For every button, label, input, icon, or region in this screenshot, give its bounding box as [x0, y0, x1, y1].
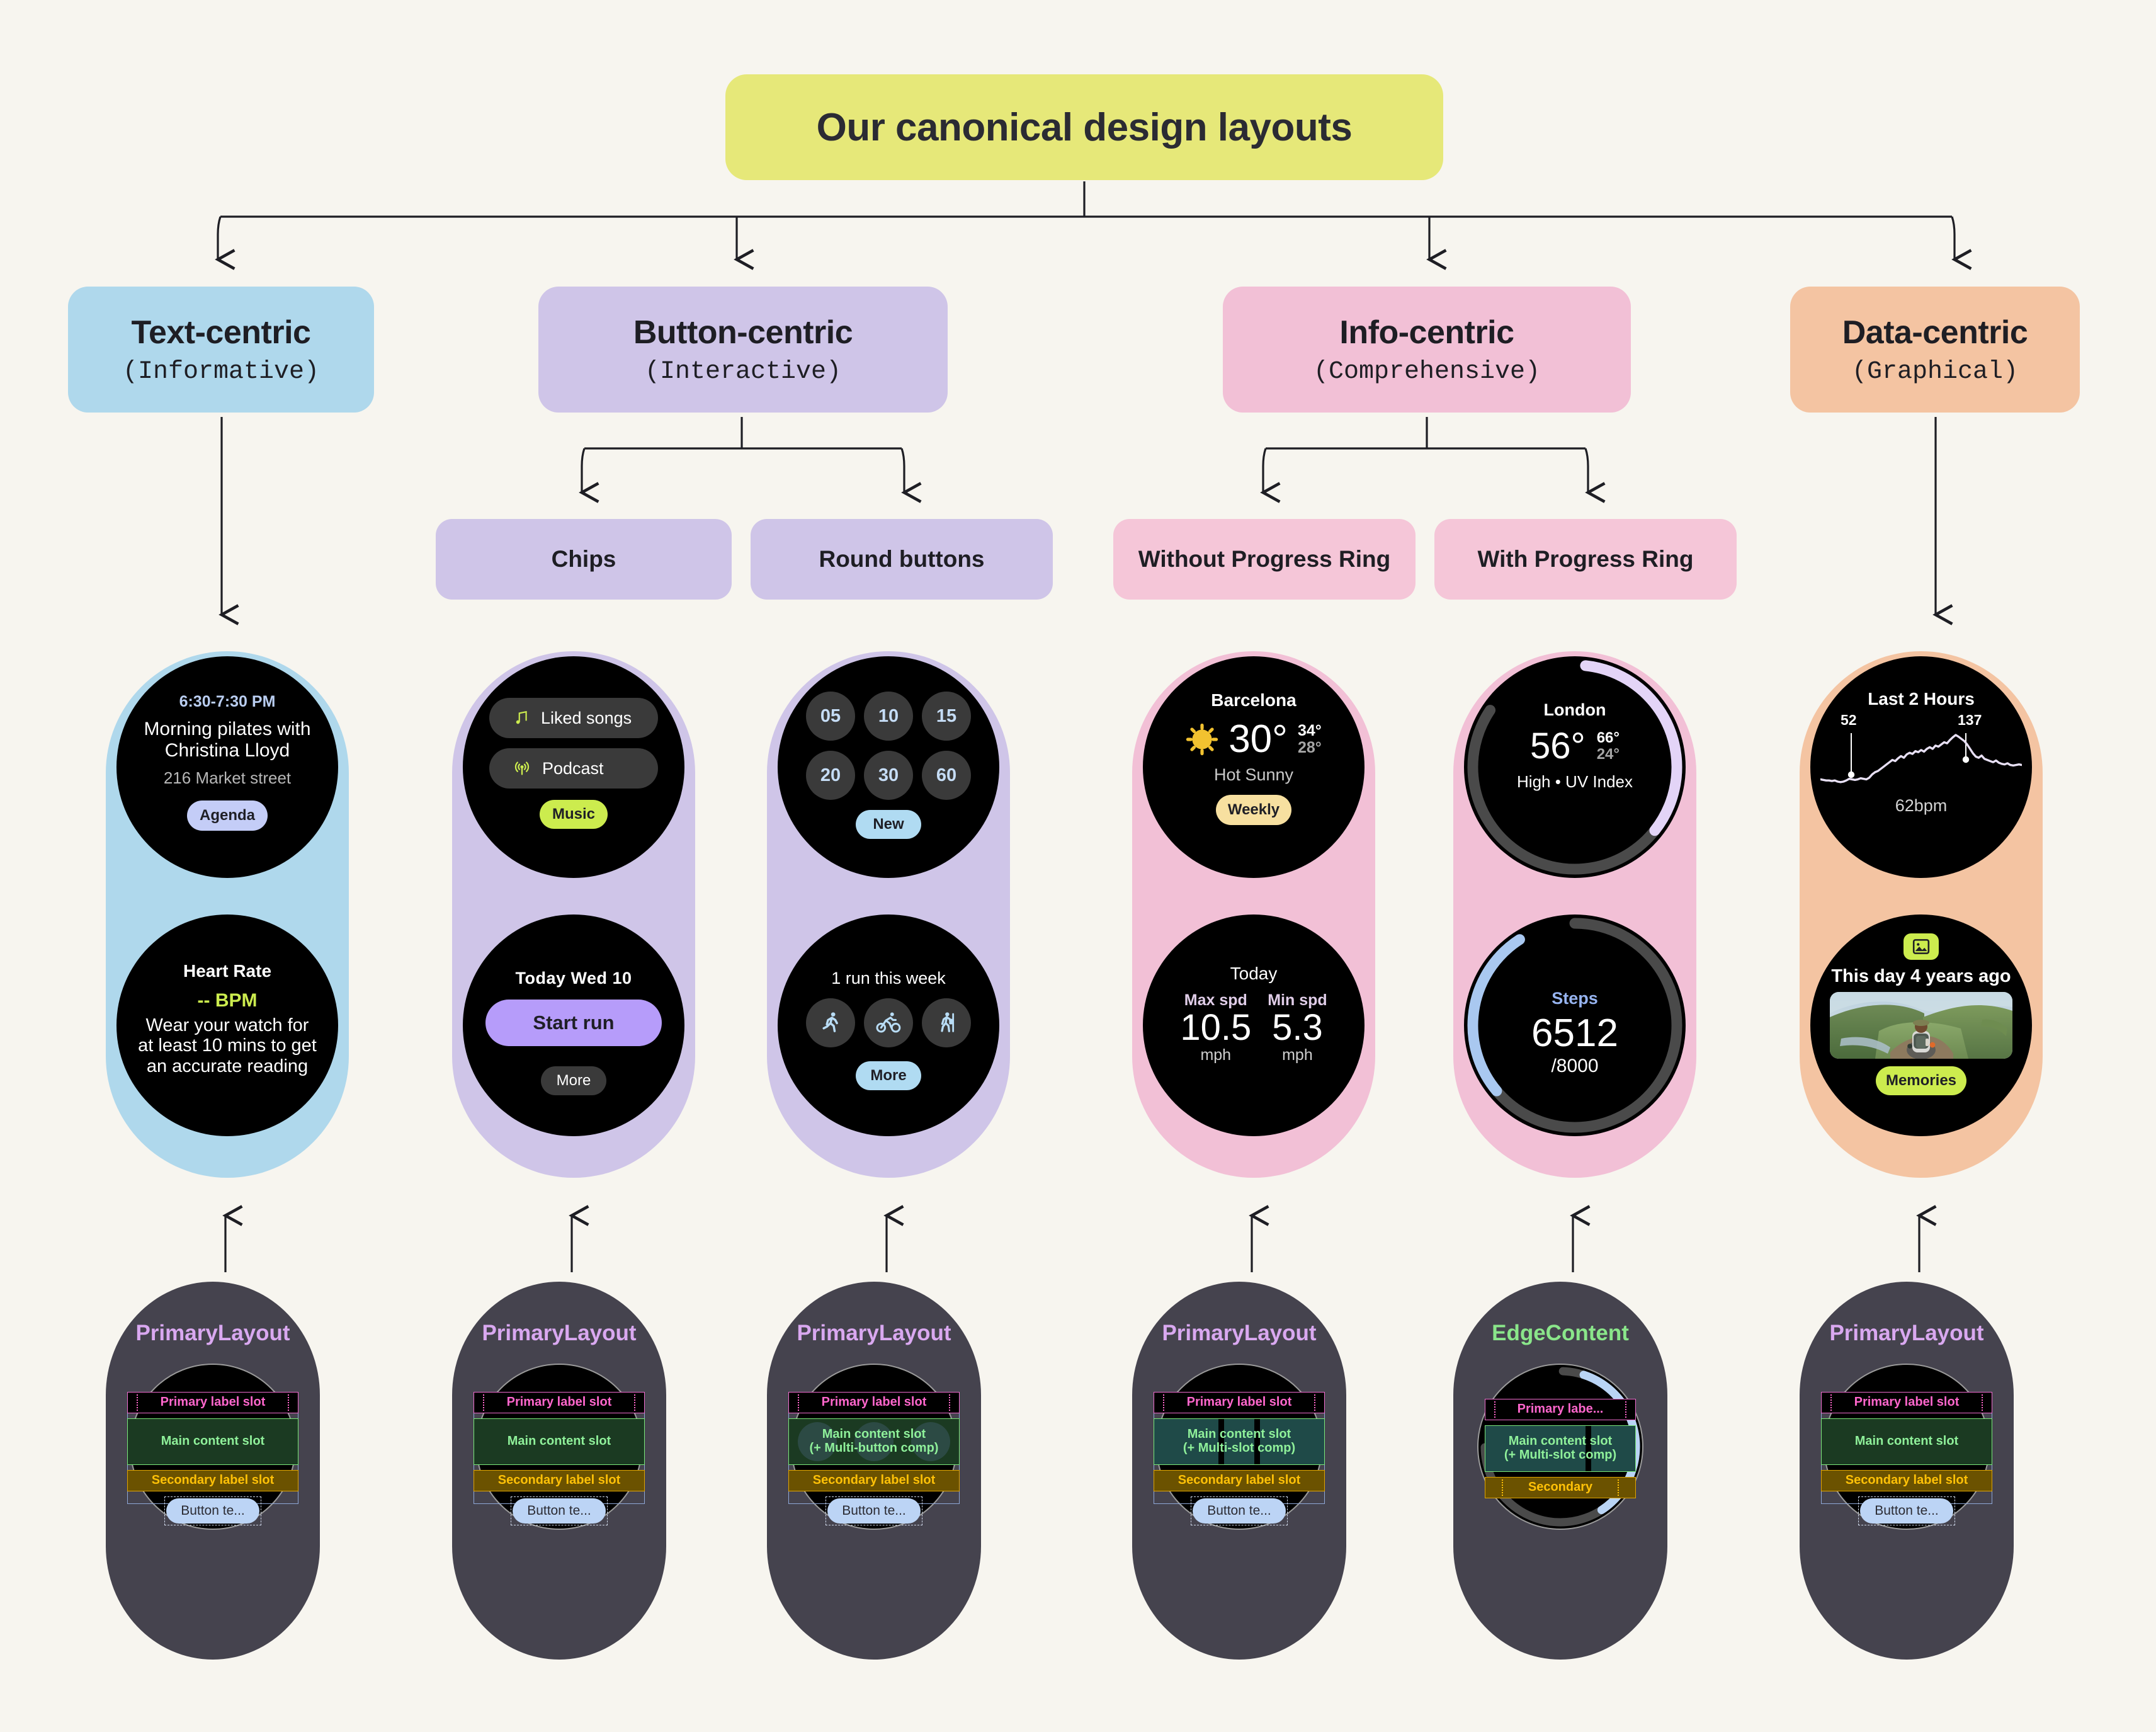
secondary-label-slot: Secondary label slot — [127, 1470, 298, 1491]
weather-high-low: 34° 28° — [1298, 722, 1322, 756]
speed-title: Today — [1230, 964, 1278, 984]
activity-button-run[interactable] — [806, 998, 855, 1047]
timer-new-button[interactable]: New — [856, 810, 921, 839]
wireframe-title: PrimaryLayout — [1829, 1321, 1983, 1346]
timer-button-grid: 05 10 15 20 30 60 — [806, 692, 971, 800]
speed-max-column: Max spd 10.5 mph — [1180, 991, 1251, 1064]
main-content-slot: Main content slot (+ Multi-button comp) — [788, 1418, 960, 1465]
primary-label-slot: Primary label slot — [1821, 1392, 1992, 1413]
speed-max-unit: mph — [1200, 1046, 1231, 1064]
weather-main-row: 30° 34° 28° — [1186, 717, 1322, 761]
music-button[interactable]: Music — [540, 800, 608, 829]
hr-current-value: 62bpm — [1895, 796, 1948, 816]
photo-icon — [1904, 933, 1939, 960]
activity-button-bike[interactable] — [864, 998, 913, 1047]
secondary-label-slot: Secondary — [1485, 1477, 1636, 1498]
wireframe-slots: Primary label slot Main content slot (+ … — [1154, 1392, 1325, 1525]
bike-icon — [875, 1010, 902, 1036]
agenda-event-title: Morning pilates with Christina Lloyd — [136, 719, 319, 761]
timer-button[interactable]: 05 — [806, 692, 855, 741]
hr-min-label: 52 — [1841, 712, 1857, 729]
hr-graph-chart: 52 137 — [1820, 712, 2022, 795]
primary-label-slot: Primary label slot — [474, 1392, 645, 1413]
wireframe-watch-5: EdgeContent Primary labe... Main content… — [1453, 1282, 1667, 1660]
weather-weekly-button[interactable]: Weekly — [1216, 795, 1291, 825]
activities-more-button[interactable]: More — [856, 1061, 921, 1090]
memories-button[interactable]: Memories — [1876, 1066, 1966, 1095]
speed-max-value: 10.5 — [1180, 1010, 1251, 1046]
agenda-button[interactable]: Agenda — [187, 800, 268, 831]
activities-title: 1 run this week — [831, 969, 946, 988]
category-name: Button-centric — [633, 314, 853, 351]
category-card-data-centric[interactable]: Data-centric (Graphical) — [1790, 287, 2080, 413]
timer-button[interactable]: 15 — [922, 692, 971, 741]
agenda-time: 6:30-7:30 PM — [179, 693, 276, 711]
wireframe-slots: Primary label slot Main content slot Sec… — [474, 1392, 645, 1525]
memories-photo — [1830, 992, 2012, 1059]
agenda-address: 216 Market street — [164, 768, 291, 788]
wireframe-button[interactable]: Button te... — [166, 1498, 259, 1524]
watch-screen-activities: 1 run this week — [778, 914, 999, 1136]
wireframe-slots: Primary labe... Main content slot (+ Mul… — [1485, 1399, 1636, 1498]
run-icon — [818, 1010, 843, 1035]
wireframe-slots: Primary label slot Main content slot (+ … — [788, 1392, 960, 1525]
secondary-label-slot: Secondary label slot — [788, 1470, 960, 1491]
primary-label-slot: Primary label slot — [788, 1392, 960, 1413]
subcategory-chips[interactable]: Chips — [436, 519, 732, 600]
watch-screen-speed: Today Max spd 10.5 mph Min spd 5.3 mph — [1143, 914, 1365, 1136]
category-card-text-centric[interactable]: Text-centric (Informative) — [68, 287, 374, 413]
main-content-slot: Main content slot (+ Multi-slot comp) — [1485, 1425, 1636, 1472]
chip-podcast[interactable]: Podcast — [489, 748, 658, 789]
wireframe-title: PrimaryLayout — [797, 1321, 951, 1346]
secondary-label-slot: Secondary label slot — [474, 1470, 645, 1491]
secondary-label-slot: Secondary label slot — [1154, 1470, 1325, 1491]
watch-screen-hr-graph: Last 2 Hours 52 137 62bpm — [1810, 656, 2032, 878]
category-name: Info-centric — [1339, 314, 1514, 351]
wireframe-title: PrimaryLayout — [135, 1321, 290, 1346]
hr-max-label: 137 — [1958, 712, 1982, 729]
start-run-cta-button[interactable]: Start run — [485, 1000, 662, 1046]
speed-min-column: Min spd 5.3 mph — [1268, 991, 1327, 1064]
watch-screen-heart-rate: Heart Rate -- BPM Wear your watch for at… — [116, 914, 338, 1136]
subcategory-round-buttons[interactable]: Round buttons — [751, 519, 1053, 600]
category-name: Data-centric — [1842, 314, 2028, 351]
subcategory-without-progress-ring[interactable]: Without Progress Ring — [1113, 519, 1416, 600]
timer-button[interactable]: 10 — [864, 692, 913, 741]
category-card-button-centric[interactable]: Button-centric (Interactive) — [538, 287, 948, 413]
wireframe-button[interactable]: Button te... — [1193, 1498, 1286, 1524]
watch-screen-start-run: Today Wed 10 Start run More — [463, 914, 684, 1136]
activities-row — [806, 998, 971, 1047]
wireframe-slots: Primary label slot Main content slot Sec… — [1821, 1392, 1992, 1525]
weather-city: Barcelona — [1211, 690, 1296, 710]
wireframe-title: PrimaryLayout — [1162, 1321, 1316, 1346]
wireframe-title: PrimaryLayout — [482, 1321, 636, 1346]
music-note-icon — [513, 710, 530, 726]
primary-label-slot: Primary labe... — [1485, 1399, 1636, 1420]
timer-button[interactable]: 30 — [864, 751, 913, 800]
start-run-more-button[interactable]: More — [541, 1066, 606, 1095]
weather-low: 28° — [1298, 739, 1322, 756]
category-card-info-centric[interactable]: Info-centric (Comprehensive) — [1223, 287, 1631, 413]
primary-label-slot: Primary label slot — [127, 1392, 298, 1413]
main-content-slot: Main content slot — [1821, 1418, 1992, 1465]
watch-screen-weather-barcelona: Barcelona 30° 34° 28° Hot Sunny Weekly — [1143, 656, 1365, 878]
wireframe-watch-6: PrimaryLayout Primary label slot Main co… — [1800, 1282, 2014, 1660]
subcategory-with-progress-ring[interactable]: With Progress Ring — [1434, 519, 1737, 600]
weather-high: 34° — [1298, 722, 1322, 739]
photo-glyph-icon — [1912, 938, 1931, 955]
heart-rate-title: Heart Rate — [183, 961, 271, 981]
category-subtitle: (Interactive) — [645, 358, 841, 386]
page-title-text: Our canonical design layouts — [817, 105, 1353, 150]
hr-graph-title: Last 2 Hours — [1868, 689, 1975, 709]
heart-rate-value: -- BPM — [198, 990, 258, 1011]
timer-button[interactable]: 60 — [922, 751, 971, 800]
activity-button-hike[interactable] — [922, 998, 971, 1047]
main-content-slot: Main content slot — [127, 1418, 298, 1465]
diagram-canvas: Our canonical design layouts Text-centri… — [0, 0, 2156, 1732]
heart-rate-description: Wear your watch for at least 10 mins to … — [137, 1015, 318, 1076]
secondary-label-slot: Secondary label slot — [1821, 1470, 1992, 1491]
wireframe-watch-2: PrimaryLayout Primary label slot Main co… — [452, 1282, 666, 1660]
chip-label: Podcast — [542, 759, 604, 778]
speed-min-unit: mph — [1282, 1046, 1313, 1064]
category-subtitle: (Comprehensive) — [1313, 358, 1540, 386]
category-subtitle: (Informative) — [123, 358, 319, 386]
watch-screen-music: Liked songs Podcast Music — [463, 656, 684, 878]
weather-condition: Hot Sunny — [1214, 765, 1293, 785]
primary-label-slot: Primary label slot — [1154, 1392, 1325, 1413]
category-name: Text-centric — [132, 314, 311, 351]
wireframe-watch-3: PrimaryLayout Primary label slot Main co… — [767, 1282, 981, 1660]
category-subtitle: (Graphical) — [1852, 358, 2018, 386]
chip-liked-songs[interactable]: Liked songs — [489, 698, 658, 738]
speed-columns: Max spd 10.5 mph Min spd 5.3 mph — [1180, 991, 1327, 1064]
wireframe-button[interactable]: Button te... — [1860, 1498, 1953, 1524]
hike-icon — [934, 1010, 959, 1035]
timer-button[interactable]: 20 — [806, 751, 855, 800]
wireframe-watch-4: PrimaryLayout Primary label slot Main co… — [1132, 1282, 1346, 1660]
wireframe-button[interactable]: Button te... — [827, 1498, 921, 1524]
watch-screen-memories: This day 4 years ago — [1810, 914, 2032, 1136]
memories-title: This day 4 years ago — [1831, 966, 2011, 987]
watch-screen-weather-london: London 56° 66° 24° High • UV Index — [1464, 656, 1686, 878]
progress-ring-steps — [1464, 914, 1686, 1136]
watch-screen-timer: 05 10 15 20 30 60 New — [778, 656, 999, 878]
weather-temperature: 30° — [1228, 717, 1288, 761]
sun-icon — [1186, 723, 1218, 756]
wireframe-watch-1: PrimaryLayout Primary label slot Main co… — [106, 1282, 320, 1660]
speed-min-value: 5.3 — [1272, 1010, 1323, 1046]
hiking-photo-illustration — [1830, 992, 2012, 1059]
page-title: Our canonical design layouts — [725, 74, 1443, 180]
progress-ring-weather — [1464, 656, 1686, 878]
chip-label: Liked songs — [541, 709, 632, 728]
main-content-slot: Main content slot — [474, 1418, 645, 1465]
watch-screen-steps: Steps 6512 /8000 — [1464, 914, 1686, 1136]
watch-screen-agenda: 6:30-7:30 PM Morning pilates with Christ… — [116, 656, 338, 878]
wireframe-title: EdgeContent — [1492, 1321, 1629, 1346]
wireframe-button[interactable]: Button te... — [513, 1498, 606, 1524]
main-content-slot: Main content slot (+ Multi-slot comp) — [1154, 1418, 1325, 1465]
start-run-date: Today Wed 10 — [515, 969, 632, 988]
podcast-icon — [513, 760, 531, 777]
wireframe-slots: Primary label slot Main content slot Sec… — [127, 1392, 298, 1525]
